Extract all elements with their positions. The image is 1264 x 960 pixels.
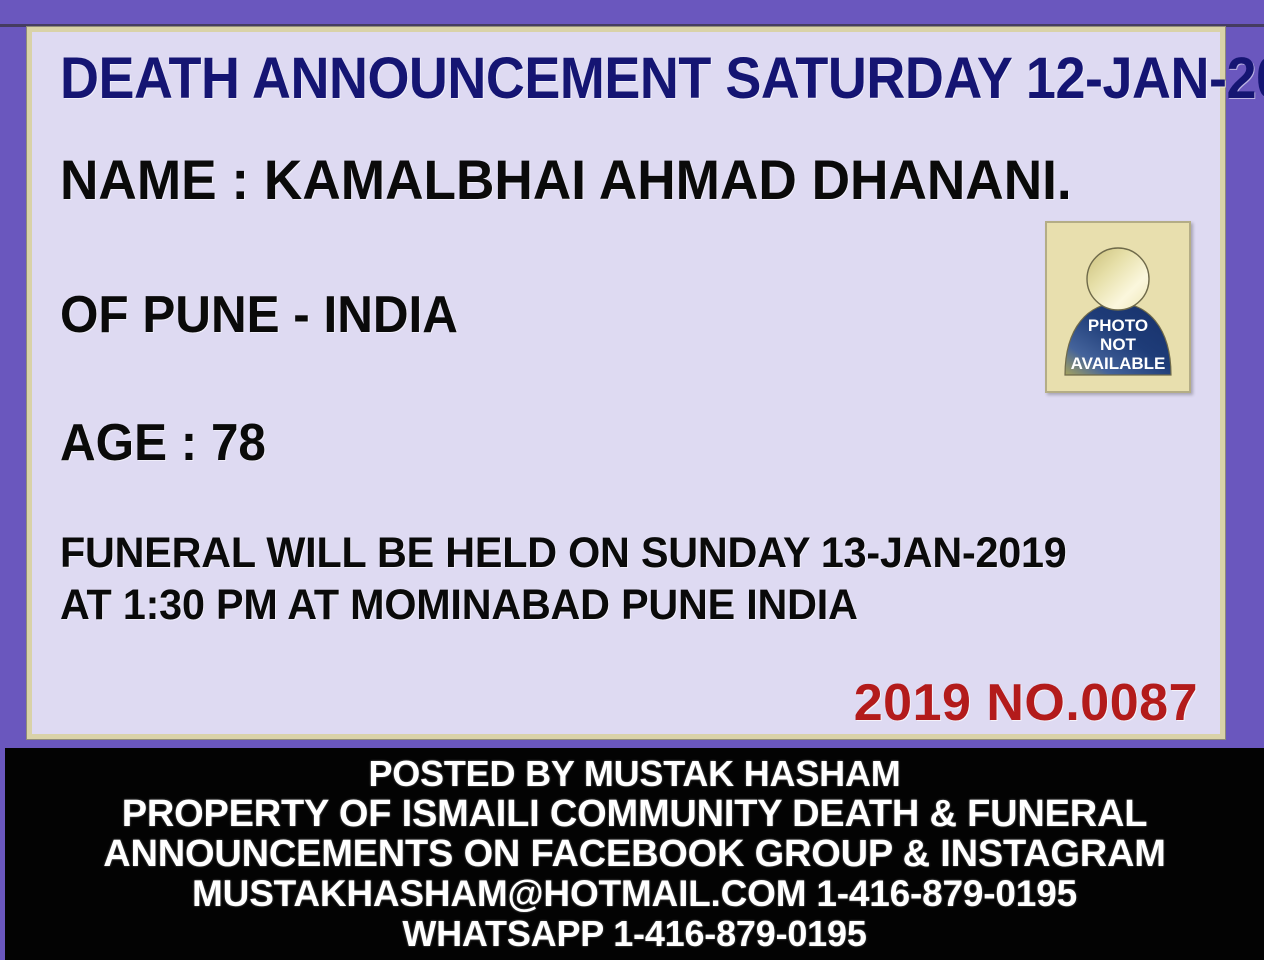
photo-label-line-1: PHOTO xyxy=(1088,316,1148,335)
notice-card-border: DEATH ANNOUNCEMENT SATURDAY 12-JAN-2019 … xyxy=(27,27,1225,739)
footer-whatsapp: WHATSAPP 1-416-879-0195 xyxy=(5,914,1264,954)
funeral-details-line-1: FUNERAL WILL BE HELD ON SUNDAY 13-JAN-20… xyxy=(60,527,1067,579)
funeral-details-line-2: AT 1:30 PM AT MOMINABAD PUNE INDIA xyxy=(60,579,1067,631)
deceased-age: AGE : 78 xyxy=(60,415,266,471)
footer-posted-by: POSTED BY MUSTAK HASHAM xyxy=(5,754,1264,794)
notice-card: DEATH ANNOUNCEMENT SATURDAY 12-JAN-2019 … xyxy=(32,32,1220,734)
credit-footer: POSTED BY MUSTAK HASHAM PROPERTY OF ISMA… xyxy=(5,748,1264,960)
photo-not-available-placeholder: PHOTO NOT AVAILABLE xyxy=(1045,221,1191,393)
deceased-name: NAME : KAMALBHAI AHMAD DHANANI. xyxy=(60,150,1072,210)
photo-label-line-3: AVAILABLE xyxy=(1071,354,1166,373)
deceased-city: OF PUNE - INDIA xyxy=(60,287,458,343)
footer-property-line: PROPERTY OF ISMAILI COMMUNITY DEATH & FU… xyxy=(5,794,1264,834)
photo-label-line-2: NOT xyxy=(1100,335,1137,354)
page-title: DEATH ANNOUNCEMENT SATURDAY 12-JAN-2019 xyxy=(60,50,1264,108)
announcement-canvas: DEATH ANNOUNCEMENT SATURDAY 12-JAN-2019 … xyxy=(0,0,1264,960)
footer-social-line: ANNOUNCEMENTS ON FACEBOOK GROUP & INSTAG… xyxy=(5,834,1264,874)
reference-number: 2019 NO.0087 xyxy=(854,674,1198,732)
person-silhouette-icon: PHOTO NOT AVAILABLE xyxy=(1047,223,1189,391)
funeral-details: FUNERAL WILL BE HELD ON SUNDAY 13-JAN-20… xyxy=(60,527,1067,631)
footer-email-phone: MUSTAKHASHAM@HOTMAIL.COM 1-416-879-0195 xyxy=(5,874,1264,914)
